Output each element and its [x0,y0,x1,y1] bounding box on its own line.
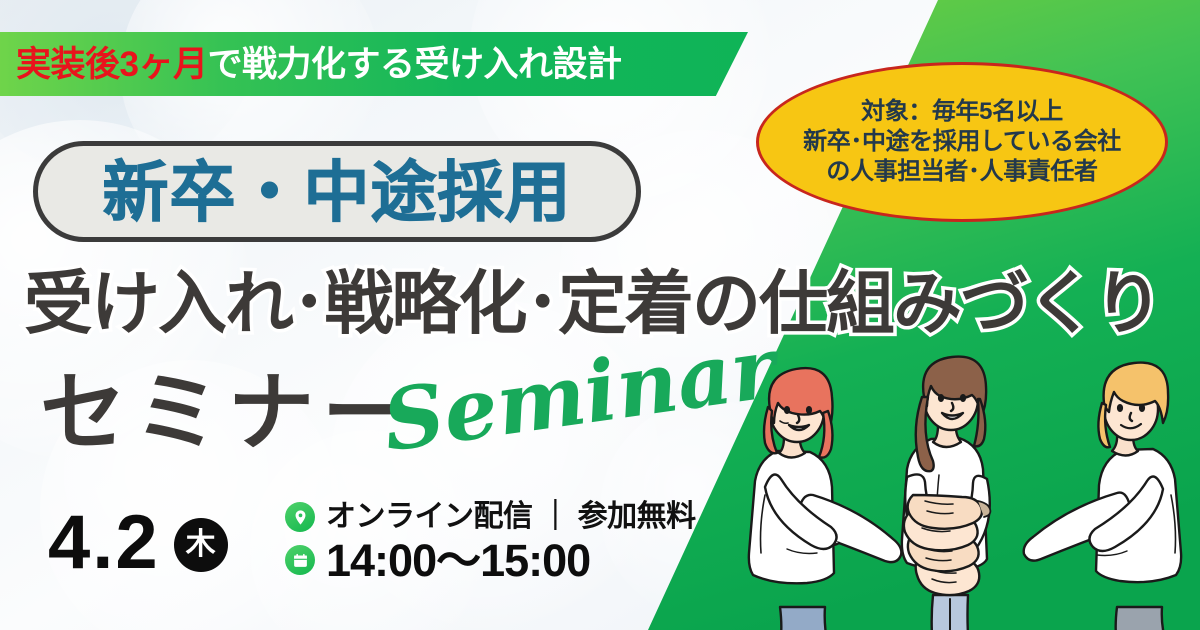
ribbon-text: 実装後3ヶ月で戦力化する受け入れ設計 [0,47,621,82]
venue-text: オンライン配信 ｜ 参加無料 [326,500,696,535]
venue-line: オンライン配信 ｜ 参加無料 [285,500,705,535]
seminar-title-group: セミナー Seminar [40,368,700,476]
headline: 受け入れ･戦略化･定着の仕組みづくり [24,258,1184,348]
location-pin-icon [285,502,315,532]
event-info-block: オンライン配信 ｜ 参加無料 14:00〜15:00 [285,500,705,584]
day-of-week-label: 木 [186,530,216,560]
three-people-stacking-hands-illustration [735,345,1200,630]
event-date-group: 4.2 木 [48,505,228,581]
event-date: 4.2 [48,505,160,581]
target-audience-ellipse: 対象：毎年5名以上 新卒･中途を採用している会社 の人事担当者･人事責任者 [756,62,1168,222]
target-audience-line-1: 対象：毎年5名以上 [861,98,1063,126]
ribbon-highlight-text: 実装後3ヶ月 [16,45,207,84]
time-text: 14:00〜15:00 [326,537,590,584]
ribbon-rest-text: で戦力化する受け入れ設計 [207,45,621,84]
category-badge-label: 新卒・中途採用 [103,159,572,225]
category-badge: 新卒・中途採用 [33,141,641,242]
target-audience-line-2: 新卒･中途を採用している会社 [803,128,1121,156]
seminar-poster: 実装後3ヶ月で戦力化する受け入れ設計 対象：毎年5名以上 新卒･中途を採用してい… [0,0,1200,630]
seminar-title-jp: セミナー [40,368,416,458]
headline-text: 受け入れ･戦略化･定着の仕組みづくり [24,269,1161,338]
ribbon-banner: 実装後3ヶ月で戦力化する受け入れ設計 [0,32,748,96]
time-line: 14:00〜15:00 [285,537,705,584]
calendar-icon [285,545,315,575]
target-audience-line-3: の人事担当者･人事責任者 [826,158,1097,186]
day-of-week-badge: 木 [174,518,228,572]
